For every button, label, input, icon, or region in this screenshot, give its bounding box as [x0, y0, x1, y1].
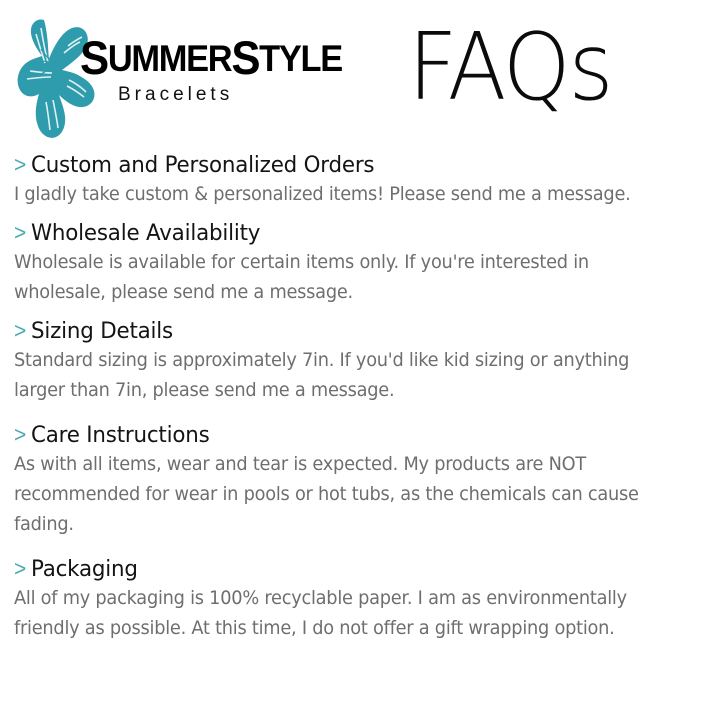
brand-logo: SUMMERSTYLE Bracelets [8, 8, 308, 138]
faq-item-sizing-details: >Sizing Details Standard sizing is appro… [0, 316, 720, 406]
brand-wordmark: SUMMERSTYLE Bracelets [80, 38, 310, 106]
faq-heading: >Wholesale Availability [14, 218, 671, 248]
faq-heading: >Care Instructions [14, 420, 671, 450]
brand-summer: UMMER [108, 38, 231, 79]
faq-item-packaging: >Packaging All of my packaging is 100% r… [0, 554, 720, 644]
faq-heading-label: Sizing Details [31, 318, 173, 344]
faq-heading: >Packaging [14, 554, 671, 584]
page-title: FAQs [408, 16, 611, 120]
faq-heading-label: Custom and Personalized Orders [31, 152, 374, 178]
faq-list: >Custom and Personalized Orders I gladly… [0, 150, 720, 658]
brand-subtitle: Bracelets [118, 84, 310, 106]
faq-body: As with all items, wear and tear is expe… [14, 450, 670, 540]
brand-name: SUMMERSTYLE [80, 38, 294, 79]
chevron-right-icon: > [14, 556, 26, 581]
faq-item-care-instructions: >Care Instructions As with all items, we… [0, 420, 720, 540]
chevron-right-icon: > [14, 220, 26, 245]
faq-body: I gladly take custom & personalized item… [14, 180, 670, 210]
faq-heading: >Custom and Personalized Orders [14, 150, 671, 180]
brand-cap-s2: S [231, 31, 259, 84]
chevron-right-icon: > [14, 152, 26, 177]
faq-page: SUMMERSTYLE Bracelets FAQs >Custom and P… [0, 0, 720, 720]
faq-body: All of my packaging is 100% recyclable p… [14, 584, 670, 644]
chevron-right-icon: > [14, 422, 26, 447]
chevron-right-icon: > [14, 318, 26, 343]
faq-heading-label: Wholesale Availability [31, 220, 260, 246]
faq-body: Standard sizing is approximately 7in. If… [14, 346, 670, 406]
brand-style: TYLE [259, 38, 342, 79]
faq-item-wholesale-availability: >Wholesale Availability Wholesale is ava… [0, 218, 720, 308]
faq-heading: >Sizing Details [14, 316, 671, 346]
faq-body: Wholesale is available for certain items… [14, 248, 670, 308]
faq-heading-label: Care Instructions [31, 422, 210, 448]
faq-heading-label: Packaging [31, 556, 138, 582]
page-header: SUMMERSTYLE Bracelets FAQs [0, 0, 720, 142]
brand-cap-s1: S [80, 31, 108, 84]
faq-item-custom-orders: >Custom and Personalized Orders I gladly… [0, 150, 720, 210]
